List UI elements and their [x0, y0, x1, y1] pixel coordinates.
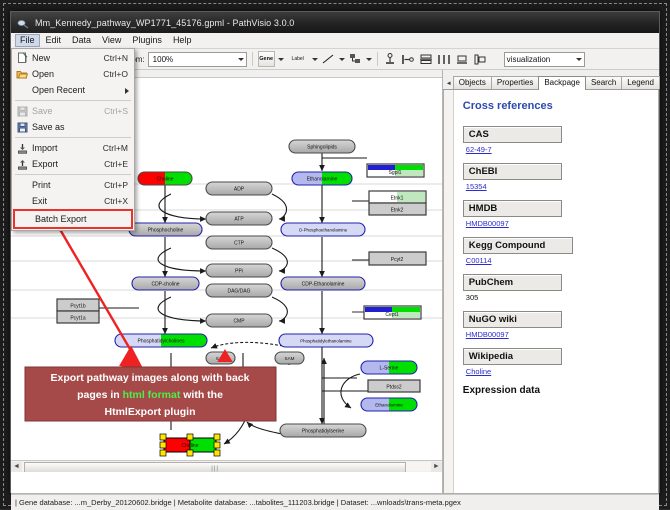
window-title: Mm_Kennedy_pathway_WP1771_45176.gpml - P… — [35, 18, 294, 28]
svg-text:Export pathway images along wi: Export pathway images along with back — [51, 372, 250, 384]
xref-db-chebi: ChEBI — [463, 163, 562, 180]
svg-text:Cept1: Cept1 — [385, 312, 399, 318]
menu-separator-3 — [15, 174, 131, 175]
align-center-button[interactable] — [419, 52, 434, 66]
menu-item-exit[interactable]: Exit Ctrl+X — [12, 193, 134, 209]
svg-text:Ethanolamine: Ethanolamine — [375, 403, 403, 408]
svg-text:SAM: SAM — [285, 356, 295, 361]
metabolite-node-cdp-choline: CDP-choline — [132, 277, 199, 290]
svg-text:ADP: ADP — [234, 187, 245, 193]
import-icon — [12, 143, 32, 154]
xref-db-cas: CAS — [463, 126, 562, 143]
toolbar-separator — [252, 52, 253, 66]
datanode-dropdown-icon[interactable] — [278, 58, 284, 61]
menu-item-save-as-label: Save as — [32, 122, 128, 132]
xref-db-kegg-compound: Kegg Compound — [463, 237, 573, 254]
svg-text:Choline: Choline — [157, 177, 174, 183]
metabolite-node-ctp: CTP — [206, 236, 272, 249]
svg-text:pages in html format with the: pages in html format with the — [77, 389, 223, 401]
menu-item-export-label: Export — [32, 159, 104, 169]
svg-text:Phosphatidylserine: Phosphatidylserine — [302, 429, 344, 435]
visualization-value: visualization — [507, 55, 551, 64]
svg-text:DAG/DAG: DAG/DAG — [227, 289, 250, 295]
menu-item-open-accel: Ctrl+O — [103, 69, 134, 79]
menu-view[interactable]: View — [97, 34, 126, 47]
distribute-button[interactable] — [437, 52, 452, 66]
metabolite-node-dag: DAG/DAG — [206, 284, 272, 297]
menu-item-exit-label: Exit — [32, 196, 104, 206]
tab-search[interactable]: Search — [585, 76, 622, 89]
svg-text:L-Serine: L-Serine — [380, 366, 399, 372]
metabolite-node-choline-top: Choline — [138, 172, 192, 185]
gene-node-pcyt1a: Pcyt1a — [57, 311, 99, 323]
menu-help[interactable]: Help — [168, 34, 197, 47]
expression-data-title: Expression data — [463, 385, 648, 396]
svg-text:Pcyt1b: Pcyt1b — [70, 304, 86, 310]
statusbar: | Gene database: ...m_Derby_20120602.bri… — [11, 494, 659, 510]
batch-export-highlight-box: Batch Export — [13, 209, 133, 229]
svg-text:Etnk1: Etnk1 — [391, 196, 404, 202]
line-tool-button[interactable] — [321, 52, 336, 66]
menu-item-new[interactable]: New Ctrl+N — [12, 50, 134, 66]
menu-item-open-recent[interactable]: Open Recent — [12, 82, 134, 98]
menu-item-exit-accel: Ctrl+X — [104, 196, 134, 206]
chevron-down-icon — [238, 58, 244, 61]
metabolite-node-sam: SAM — [275, 352, 304, 364]
annotation-arrow — [58, 226, 142, 369]
save-as-icon — [12, 122, 32, 133]
zoom-value: 100% — [151, 55, 173, 64]
menu-file[interactable]: File — [15, 34, 40, 47]
save-icon — [12, 106, 32, 117]
gene-node-cept1: Cept1 — [364, 306, 421, 319]
menu-edit[interactable]: Edit — [41, 34, 67, 47]
scroll-thumb-grip-icon: ||| — [211, 466, 219, 472]
open-folder-icon — [12, 69, 32, 80]
svg-text:Choline: Choline — [182, 443, 199, 449]
menu-item-print-accel: Ctrl+P — [104, 180, 134, 190]
metabolite-node-atp: ATP — [206, 212, 272, 225]
menu-data[interactable]: Data — [67, 34, 96, 47]
new-file-icon — [12, 52, 32, 64]
window-titlebar: Mm_Kennedy_pathway_WP1771_45176.gpml - P… — [11, 12, 659, 33]
gene-node-pcyt2: Pcyt2 — [369, 252, 426, 265]
metabolite-node-ethanolamine-bottom: Ethanolamine — [361, 398, 417, 411]
xref-db-hmdb: HMDB — [463, 200, 562, 217]
svg-text:CDP-Ethanolamine: CDP-Ethanolamine — [302, 282, 345, 288]
metabolite-node-phosphocholine: Phosphocholine — [129, 223, 202, 236]
interaction-dropdown-icon[interactable] — [366, 58, 372, 61]
statusbar-text: | Gene database: ...m_Derby_20120602.bri… — [15, 498, 461, 507]
gene-node-etnk2: Etnk2 — [369, 203, 426, 215]
side-panel-tabs[interactable]: ◄ Objects Properties Backpage Search Leg… — [443, 70, 659, 90]
screenshot-root: Mm_Kennedy_pathway_WP1771_45176.gpml - P… — [0, 0, 670, 509]
visualization-chevron-down-icon — [576, 58, 582, 61]
menu-item-import[interactable]: Import Ctrl+M — [12, 140, 134, 156]
metabolite-node-cdp-ethanolamine: CDP-Ethanolamine — [281, 277, 365, 290]
metabolite-node-ppi: PPi — [206, 264, 272, 277]
xref-value-wikipedia[interactable]: Choline — [466, 367, 648, 376]
svg-text:Pcyt1a: Pcyt1a — [70, 316, 86, 322]
metabolite-node-adp: ADP — [206, 182, 272, 195]
canvas-scroll-thumb[interactable]: ||| — [24, 462, 406, 472]
datanode-tool-button[interactable]: Gene — [258, 51, 275, 67]
zoom-combobox[interactable]: 100% — [148, 52, 247, 67]
menu-item-batch-export-label: Batch Export — [35, 214, 131, 224]
metabolite-node-o-phosphoethanolamine: O-Phosphoethanolamine — [281, 223, 365, 236]
xref-value-kegg-compound[interactable]: C00114 — [466, 256, 648, 265]
gene-node-ptdss2: Ptdss2 — [368, 380, 420, 392]
menu-item-batch-export[interactable]: Batch Export — [15, 211, 131, 227]
export-icon — [12, 159, 32, 170]
menu-separator-1 — [15, 100, 131, 101]
metabolite-node-phosphatidylethanolamine: Phosphatidylethanolamine — [279, 334, 373, 347]
svg-text:ATP: ATP — [234, 217, 244, 223]
backpage-inner: Cross references CAS 62-49-7 ChEBI 15354… — [454, 90, 658, 493]
label-tool-label: Label — [292, 56, 304, 62]
metabolite-node-ethanolamine-top: Ethanolamine — [292, 172, 352, 185]
menu-item-new-accel: Ctrl+N — [104, 53, 134, 63]
svg-text:Etnk2: Etnk2 — [391, 208, 404, 214]
line-dropdown-icon[interactable] — [339, 58, 345, 61]
backpage-vertical-scrollbar[interactable] — [444, 90, 454, 493]
menu-item-print[interactable]: Print Ctrl+P — [12, 177, 134, 193]
menu-item-save-label: Save — [32, 106, 104, 116]
gene-node-sgpl1: Sgpl1 — [367, 164, 424, 177]
canvas-scroll-track[interactable]: ||| — [22, 462, 431, 471]
align-top-button[interactable] — [383, 52, 398, 66]
menu-plugins[interactable]: Plugins — [127, 34, 167, 47]
pathvisio-app-icon — [17, 17, 29, 29]
menu-separator-2 — [15, 137, 131, 138]
toolbar-separator-2 — [377, 52, 378, 66]
label-tool-button[interactable]: Label — [287, 52, 309, 66]
visualization-combobox[interactable]: visualization — [504, 52, 585, 67]
svg-text:Sphingolipids: Sphingolipids — [307, 145, 337, 151]
svg-text:Phosphocholine: Phosphocholine — [148, 228, 184, 234]
menu-item-save-accel: Ctrl+S — [104, 106, 134, 116]
menu-item-open[interactable]: Open Ctrl+O — [12, 66, 134, 82]
tab-properties[interactable]: Properties — [491, 76, 539, 89]
menu-item-import-accel: Ctrl+M — [103, 143, 134, 153]
menu-item-open-recent-label: Open Recent — [32, 85, 134, 95]
tab-legend[interactable]: Legend — [621, 76, 660, 89]
menubar[interactable]: File Edit Data View Plugins Help — [11, 33, 659, 49]
order-button[interactable] — [473, 52, 488, 66]
svg-text:CTP: CTP — [234, 241, 245, 247]
xref-value-cas[interactable]: 62-49-7 — [466, 145, 648, 154]
xref-value-nugo-wiki[interactable]: HMDB00097 — [466, 330, 648, 339]
datanode-tool-label: Gene — [259, 56, 273, 62]
svg-text:HtmlExport plugin: HtmlExport plugin — [105, 406, 196, 418]
stack-button[interactable] — [455, 52, 470, 66]
svg-text:Phosphatidylcholines: Phosphatidylcholines — [138, 339, 185, 345]
interaction-tool-button[interactable] — [348, 52, 363, 66]
metabolite-node-choline-selected: Choline — [160, 434, 220, 456]
xref-value-chebi[interactable]: 15354 — [466, 182, 648, 191]
align-left-button[interactable] — [401, 52, 416, 66]
svg-text:CMP: CMP — [233, 319, 245, 325]
file-menu-dropdown[interactable]: New Ctrl+N Open Ctrl+O Open Recent — [11, 48, 135, 231]
pathvisio-application-window: Mm_Kennedy_pathway_WP1771_45176.gpml - P… — [10, 11, 660, 493]
menu-item-save: Save Ctrl+S — [12, 103, 134, 119]
metabolite-node-sphingolipids: Sphingolipids — [289, 140, 355, 153]
xref-value-pubchem: 305 — [466, 293, 648, 302]
xref-db-pubchem: PubChem — [463, 274, 562, 291]
annotation-callout: Export pathway images along with back pa… — [25, 367, 276, 421]
menu-item-save-as[interactable]: Save as — [12, 119, 134, 135]
gene-node-etnk1: Etnk1 — [369, 191, 426, 203]
scroll-left-arrow-icon[interactable]: ◄ — [11, 462, 22, 472]
svg-text:Pcyt2: Pcyt2 — [391, 257, 404, 263]
xref-value-hmdb[interactable]: HMDB00097 — [466, 219, 648, 228]
side-panel: ◄ Objects Properties Backpage Search Leg… — [443, 70, 659, 494]
menu-item-export[interactable]: Export Ctrl+E — [12, 156, 134, 172]
svg-text:Ethanolamine: Ethanolamine — [307, 177, 338, 183]
tab-backpage[interactable]: Backpage — [538, 76, 586, 90]
tab-objects[interactable]: Objects — [453, 76, 492, 89]
label-dropdown-icon[interactable] — [312, 58, 318, 61]
menu-item-new-label: New — [32, 53, 104, 63]
scroll-right-arrow-icon[interactable]: ► — [431, 462, 442, 472]
metabolite-node-l-serine: L-Serine — [361, 361, 417, 374]
menu-item-import-label: Import — [32, 143, 103, 153]
menu-item-print-label: Print — [32, 180, 104, 190]
xref-db-wikipedia: Wikipedia — [463, 348, 562, 365]
menu-item-open-label: Open — [32, 69, 103, 79]
svg-text:CDP-choline: CDP-choline — [151, 282, 179, 288]
submenu-chevron-right-icon — [125, 88, 129, 94]
tabs-scroll-left-icon[interactable]: ◄ — [446, 81, 453, 89]
gene-node-pcyt1b: Pcyt1b — [57, 299, 99, 311]
svg-text:PPi: PPi — [235, 269, 243, 275]
svg-text:O-Phosphoethanolamine: O-Phosphoethanolamine — [299, 228, 348, 233]
menu-item-export-accel: Ctrl+E — [104, 159, 134, 169]
metabolite-node-cmp: CMP — [206, 314, 272, 327]
xref-db-nugo-wiki: NuGO wiki — [463, 311, 562, 328]
svg-text:Ptdss2: Ptdss2 — [386, 385, 402, 391]
svg-text:Sgpl1: Sgpl1 — [389, 170, 402, 176]
backpage-content: Cross references CAS 62-49-7 ChEBI 15354… — [443, 90, 659, 494]
canvas-horizontal-scrollbar[interactable]: ◄ ||| ► — [11, 460, 442, 472]
metabolite-node-phosphatidylserine: Phosphatidylserine — [280, 424, 366, 437]
cross-references-title: Cross references — [463, 100, 648, 112]
svg-text:Phosphatidylethanolamine: Phosphatidylethanolamine — [300, 339, 352, 344]
